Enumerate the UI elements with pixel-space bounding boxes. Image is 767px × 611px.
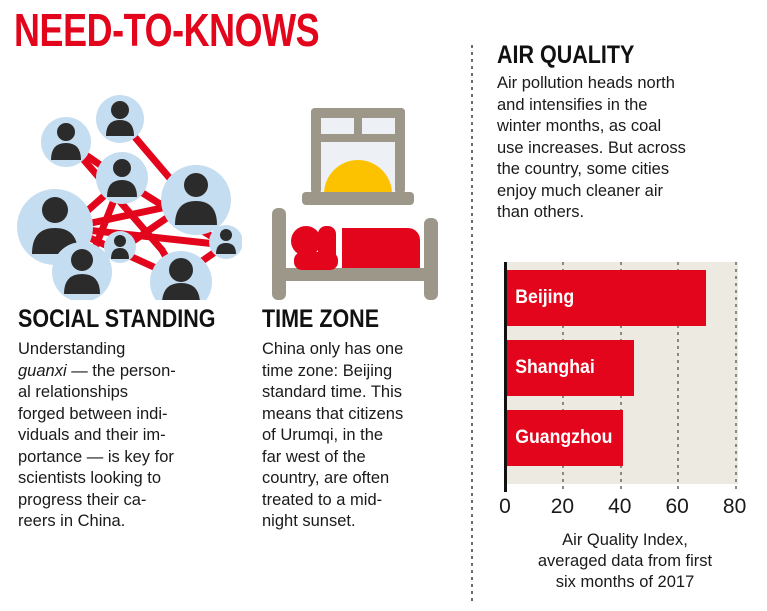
bar-guangzhou[interactable]: Guangzhou — [505, 410, 623, 466]
text-line: of Urumqi, in the — [262, 426, 383, 444]
text-line: night sunset. — [262, 512, 356, 530]
caption-line: Air Quality Index, — [562, 531, 688, 549]
text-line: viduals and their im- — [18, 426, 166, 444]
text-line: scientists looking to — [18, 469, 161, 487]
x-tick-80: 80 — [723, 495, 746, 519]
bar-beijing[interactable]: Beijing — [505, 270, 706, 326]
text-line: time zone: Beijing — [262, 362, 392, 380]
gridline-80 — [735, 262, 737, 492]
bar-shanghai[interactable]: Shanghai — [505, 340, 634, 396]
text-line: and intensifies in the — [497, 96, 647, 114]
caption-line: six months of 2017 — [556, 573, 695, 591]
text-line: use increases. But across — [497, 139, 686, 157]
column-air-quality: AIR QUALITY Air pollution heads north an… — [497, 42, 753, 224]
text-line: enjoy much cleaner air — [497, 182, 663, 200]
text-line: China only has one — [262, 340, 403, 358]
bar-label: Shanghai — [505, 357, 595, 379]
heading-air-quality: AIR QUALITY — [497, 42, 717, 69]
body-time-zone: China only has one time zone: Beijing st… — [262, 339, 454, 533]
text-line: treated to a mid- — [262, 491, 382, 509]
page-title: NEED-TO-KNOWS — [14, 6, 319, 54]
x-tick-20: 20 — [551, 495, 574, 519]
heading-time-zone: TIME ZONE — [262, 306, 427, 333]
body-social-standing: Understanding guanxi — the person- al re… — [18, 339, 240, 533]
text-line: standard time. This — [262, 383, 402, 401]
chart-y-axis-line — [504, 262, 507, 492]
body-air-quality: Air pollution heads north and intensifie… — [497, 73, 753, 224]
text-line: Understanding — [18, 340, 125, 358]
text-line: winter months, as coal — [497, 117, 661, 135]
air-quality-bar-chart: BeijingShanghaiGuangzhou 020406080 Air Q… — [497, 262, 753, 602]
text-line: means that citizens — [262, 405, 403, 423]
text-line: far west of the — [262, 448, 366, 466]
text-line: reers in China. — [18, 512, 125, 530]
column-social-standing: SOCIAL STANDING Understanding guanxi — t… — [18, 78, 240, 533]
text-line: country, are often — [262, 469, 389, 487]
text-italic-guanxi: guanxi — [18, 362, 67, 380]
x-tick-40: 40 — [608, 495, 631, 519]
caption-line: averaged data from first — [538, 552, 712, 570]
text-line: progress their ca- — [18, 491, 146, 509]
text-line: forged between indi- — [18, 405, 168, 423]
bar-label: Guangzhou — [505, 427, 612, 449]
column-divider — [471, 45, 473, 602]
column-time-zone: TIME ZONE China only has one time zone: … — [262, 78, 454, 533]
chart-caption: Air Quality Index, averaged data from fi… — [497, 530, 753, 593]
text-line: the country, some cities — [497, 160, 669, 178]
text-line: — the person- — [67, 362, 176, 380]
text-line: than others. — [497, 203, 584, 221]
x-tick-60: 60 — [666, 495, 689, 519]
text-line: al relationships — [18, 383, 128, 401]
bar-label: Beijing — [505, 287, 574, 309]
text-line: portance — is key for — [18, 448, 174, 466]
x-tick-0: 0 — [499, 495, 511, 519]
text-line: Air pollution heads north — [497, 74, 675, 92]
heading-social-standing: SOCIAL STANDING — [18, 306, 209, 333]
